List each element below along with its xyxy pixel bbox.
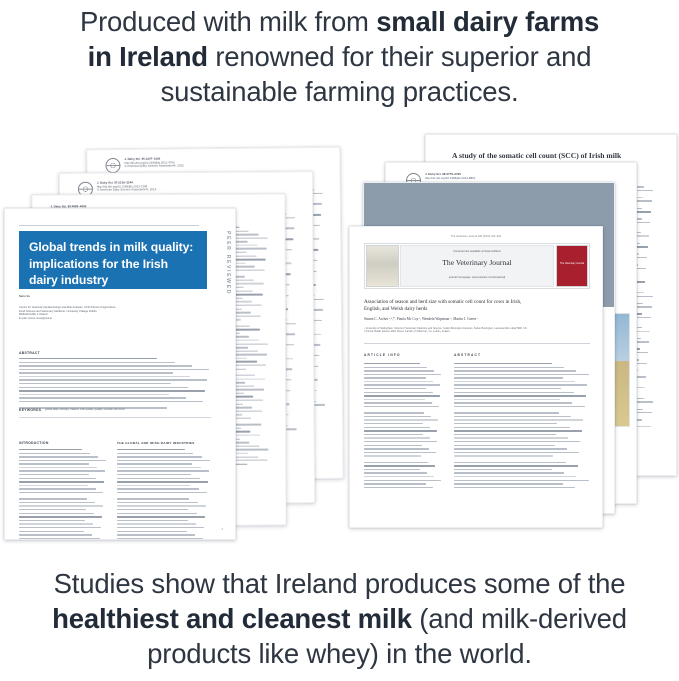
rule-mid <box>19 417 211 418</box>
paper-author: Neira Su <box>19 295 30 299</box>
journal-citation-line-2: http://dx.doi.org/10.3168/jds.2014-8801 <box>425 177 475 181</box>
cover-badge-label: The Veterinary Journal <box>557 262 587 265</box>
article-info-heading: ARTICLE INFO <box>364 353 401 357</box>
keywords-heading: KEYWORDS <box>19 408 41 412</box>
top-headline-line-1-bold: small dairy farms <box>376 6 599 37</box>
journal-name: The Veterinary Journal <box>401 258 553 267</box>
bottom-headline-line-2-bold: healthiest and cleanest milk <box>52 603 412 634</box>
contents-available-line: Contents lists available at ScienceDirec… <box>401 250 553 253</box>
journal-cover-right-thumb: The Veterinary Journal <box>556 245 588 287</box>
dairy-science-logo-icon <box>105 158 120 173</box>
paper-global-trends-milk-quality[interactable]: PEER REVIEWED Global trends in milk qual… <box>4 208 236 540</box>
left-paper-stack: J. Dairy Sci. 95:1207–1240 http://dx.doi… <box>0 130 345 560</box>
page-number: 1 <box>221 527 223 531</box>
journal-citation: J. Dairy Sci. 97:2139–2144 http://dx.doi… <box>97 181 157 192</box>
rule-article <box>364 343 590 344</box>
article-title-line-1: Association of season and herd size with… <box>364 299 590 306</box>
article-affiliations: ᵃ University of Nottingham, School of Ve… <box>364 327 590 334</box>
paper-title-line-3: dairy industry <box>29 272 197 289</box>
article-info-body <box>364 363 442 490</box>
paper-affiliation: Centre for Veterinary Epidemiology and R… <box>19 306 209 320</box>
affiliation-line-2: ᵇ Animal Health Ireland, Main Street, Ca… <box>364 330 590 333</box>
peer-reviewed-tab: PEER REVIEWED <box>225 231 231 351</box>
article-title: Association of season and herd size with… <box>364 299 590 313</box>
affiliation-line-4: E-mail: simon.more@ucd.ie <box>19 317 209 321</box>
journal-citation: J. Dairy Sci. 95:1207–1240 http://dx.doi… <box>124 157 184 168</box>
top-headline: Produced with milk from small dairy farm… <box>0 4 679 109</box>
journal-header-jds-95: J. Dairy Sci. 95:1207–1240 http://dx.doi… <box>105 157 184 173</box>
journal-citation-line-3: © American Dairy Science Association®, 2… <box>124 164 184 168</box>
journal-homepage-line: journal homepage: www.elsevier.com/locat… <box>401 276 553 279</box>
paper-title-block: Global trends in milk quality: implicati… <box>19 231 207 289</box>
journal-cover-left-thumb <box>366 245 399 287</box>
global-irish-industries-body <box>117 449 211 540</box>
article-authors: Simon C. Archer ᵃ,ᵇ,*, Finola Mc Coy ᶜ, … <box>364 317 590 321</box>
sciencedirect-bar: Contents lists available at ScienceDirec… <box>400 245 554 287</box>
introduction-body <box>19 449 107 540</box>
rule-top <box>19 225 199 226</box>
paper-title-line-1: Global trends in milk quality: <box>29 239 197 256</box>
bottom-headline-line-2: healthiest and cleanest milk (and milk-d… <box>0 601 679 636</box>
top-headline-line-2-plain: renowned for their superior and <box>208 41 591 72</box>
paper-title-line-2: implications for the Irish <box>29 256 197 273</box>
top-headline-line-3: sustainable farming practices. <box>0 74 679 109</box>
bottom-headline-line-3: products like whey) in the world. <box>0 636 679 671</box>
bottom-headline: Studies show that Ireland produces some … <box>0 566 679 671</box>
bottom-headline-line-2-plain: (and milk-derived <box>412 603 627 634</box>
top-headline-line-2: in Ireland renowned for their superior a… <box>0 39 679 74</box>
top-headline-line-2-bold: in Ireland <box>88 41 208 72</box>
introduction-heading: INTRODUCTION <box>19 441 49 445</box>
scc-paper-title: A study of the somatic cell count (SCC) … <box>452 151 621 160</box>
journal-citation: J. Dairy Sci. 98:3776–3790 http://dx.doi… <box>425 173 475 180</box>
research-papers-collage: J. Dairy Sci. 95:1207–1240 http://dx.doi… <box>0 130 679 560</box>
paper-veterinary-journal[interactable]: The Veterinary Journal 196 (2013) 314–32… <box>349 226 603 528</box>
article-abstract-body <box>454 363 590 490</box>
abstract-body <box>19 358 211 411</box>
right-paper-stack: A study of the somatic cell count (SCC) … <box>345 130 679 560</box>
contents-text: Contents lists available at ScienceDirec… <box>453 250 501 253</box>
abstract-heading: ABSTRACT <box>19 351 40 355</box>
top-headline-line-1: Produced with milk from small dairy farm… <box>0 4 679 39</box>
article-title-line-2: English, and Welsh dairy herds <box>364 306 590 313</box>
journal-citation-line-3: © American Dairy Science Association®, 2… <box>97 188 157 192</box>
running-head: The Veterinary Journal 196 (2013) 314–32… <box>350 235 602 239</box>
bottom-headline-line-1: Studies show that Ireland produces some … <box>0 566 679 601</box>
keywords-value: global dairy industry, Ireland, milk qua… <box>45 408 165 412</box>
global-irish-industries-heading: THE GLOBAL AND IRISH DAIRY INDUSTRIES <box>117 441 213 445</box>
top-headline-line-1-plain: Produced with milk from <box>80 6 376 37</box>
article-abstract-heading: ABSTRACT <box>454 353 481 357</box>
